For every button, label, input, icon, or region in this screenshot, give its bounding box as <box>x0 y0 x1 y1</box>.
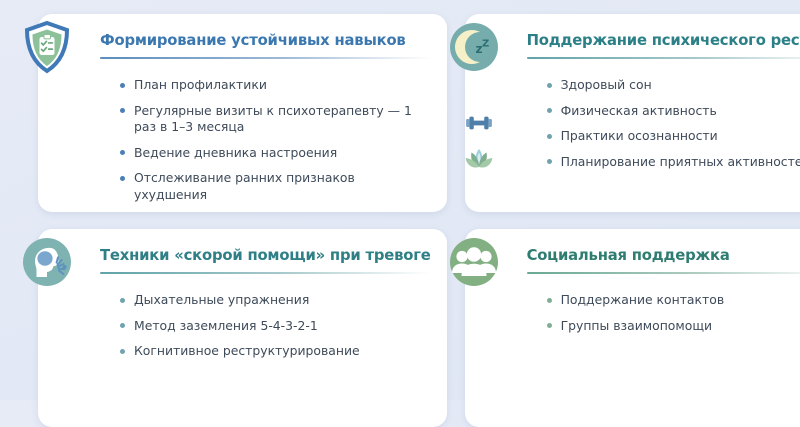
shield-checklist-icon <box>20 20 74 74</box>
card-title: Поддержание психического ресурса <box>527 32 800 50</box>
people-group-icon <box>447 235 501 289</box>
breathing-head-icon <box>20 235 74 289</box>
title-divider <box>100 272 431 274</box>
svg-text:Z: Z <box>482 39 489 50</box>
card-header: Поддержание психического ресурса <box>523 32 800 66</box>
card-item-list: Поддержание контактов Группы взаимопомощ… <box>523 292 800 334</box>
card-header: Формирование устойчивых навыков <box>96 32 431 66</box>
card-emergency-techniques: Техники «скорой помощи» при тревоге Дыха… <box>38 229 447 427</box>
lotus-icon <box>462 142 496 176</box>
list-item: Практики осознанности <box>547 128 800 145</box>
list-item: Ведение дневника настроения <box>120 145 431 162</box>
list-item: Группы взаимопомощи <box>547 318 800 335</box>
title-divider <box>100 57 431 59</box>
card-social-support: Социальная поддержка Поддержание контакт… <box>465 229 800 427</box>
list-item: Здоровый сон <box>547 77 800 94</box>
list-item: Регулярные визиты к психотерапевту — 1 р… <box>120 103 431 136</box>
card-item-list: Здоровый сон Физическая активность Практ… <box>523 77 800 170</box>
cards-board: Формирование устойчивых навыков План про… <box>0 0 800 400</box>
card-skills: Формирование устойчивых навыков План про… <box>38 14 447 212</box>
title-divider <box>527 57 800 59</box>
list-item: Метод заземления 5-4-3-2-1 <box>120 318 431 335</box>
card-title: Техники «скорой помощи» при тревоге <box>100 247 431 265</box>
moon-sleep-icon: z Z <box>447 20 501 74</box>
card-mental-resource: z Z Поддержание психич <box>465 14 800 212</box>
title-divider <box>527 272 800 274</box>
list-item: Дыхательные упражнения <box>120 292 431 309</box>
list-item: Отслеживание ранних признаков ухудшения <box>120 170 431 203</box>
card-title: Социальная поддержка <box>527 247 800 265</box>
card-header: Социальная поддержка <box>523 247 800 281</box>
list-item: План профилактики <box>120 77 431 94</box>
card-header: Техники «скорой помощи» при тревоге <box>96 247 431 281</box>
card-item-list: План профилактики Регулярные визиты к пс… <box>96 77 431 204</box>
card-title: Формирование устойчивых навыков <box>100 32 431 50</box>
dumbbell-icon <box>462 106 496 140</box>
list-item: Поддержание контактов <box>547 292 800 309</box>
list-item: Физическая активность <box>547 103 800 120</box>
list-item: Когнитивное реструктурирование <box>120 343 431 360</box>
list-item: Планирование приятных активностей <box>547 154 800 171</box>
card-item-list: Дыхательные упражнения Метод заземления … <box>96 292 431 360</box>
